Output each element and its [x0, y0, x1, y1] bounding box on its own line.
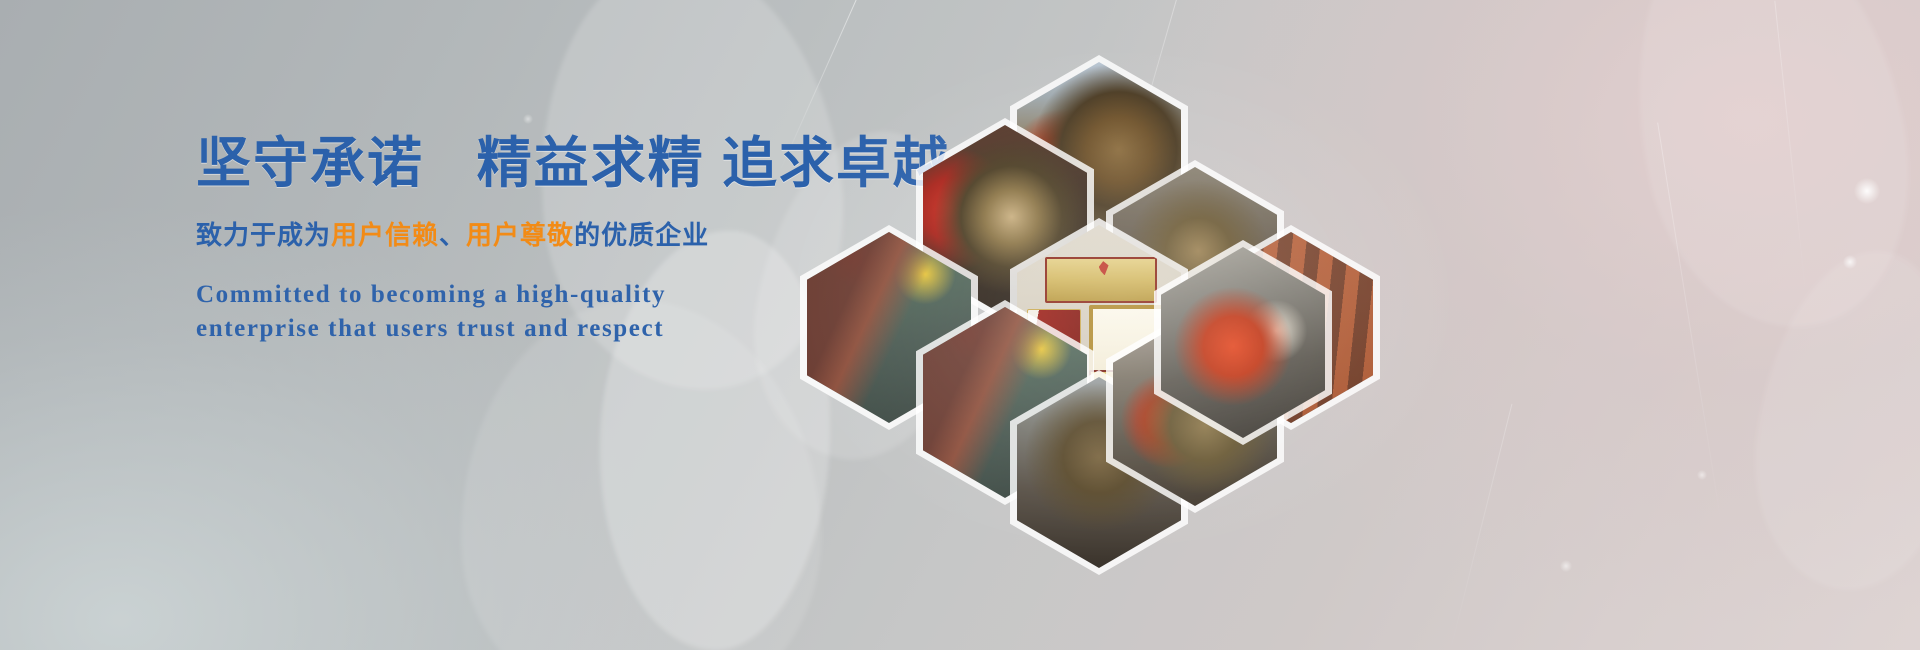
light-spark [1697, 470, 1707, 480]
certificate-plaque-top [1045, 257, 1157, 303]
light-streak [1774, 1, 1806, 299]
background-blob-shape [1599, 0, 1920, 352]
subtitle-highlight-2: 用户尊敬 [466, 220, 574, 250]
light-spark [1560, 560, 1572, 572]
light-spark [523, 114, 533, 124]
subtitle-prefix: 致力于成为 [196, 220, 331, 250]
light-spark [1854, 178, 1880, 204]
subtitle-highlight-1: 用户信赖 [331, 220, 439, 250]
subtitle-suffix: 的优质企业 [574, 220, 709, 250]
hero-banner: 坚守承诺 精益求精 追求卓越 致力于成为用户信赖、用户尊敬的优质企业 Commi… [0, 0, 1920, 650]
subtitle-separator: 、 [439, 220, 466, 250]
headline-part-1: 坚守承诺 [196, 132, 424, 194]
light-streak [1657, 123, 1724, 538]
award-flame-icon [1099, 261, 1109, 275]
hexagon-collage [770, 40, 1470, 560]
light-spark [1843, 255, 1857, 269]
background-blob-shape [1737, 238, 1920, 603]
